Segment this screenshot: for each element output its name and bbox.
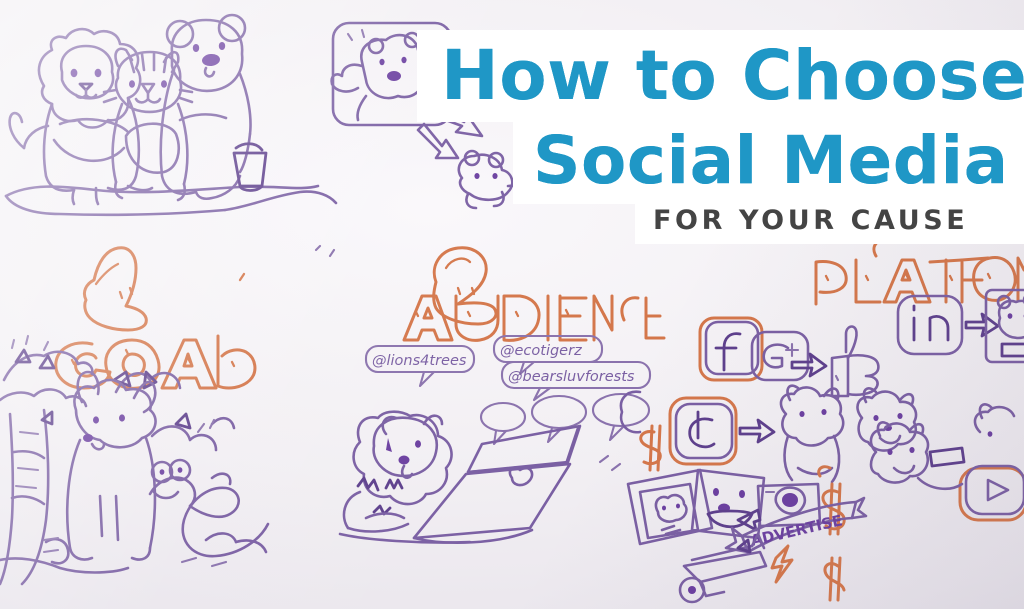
snake-character — [150, 420, 268, 566]
bush-shapes — [114, 372, 234, 450]
twitter-icon[interactable] — [670, 398, 736, 464]
arrow-linkedin-right — [966, 314, 998, 336]
photo-stack — [628, 470, 764, 544]
subtitle-box: FOR YOUR CAUSE — [635, 196, 1024, 244]
svg-text:@ecotigerz: @ecotigerz — [500, 343, 582, 359]
cat-face-right-partial — [975, 404, 1014, 436]
biplane — [680, 534, 766, 602]
arrow-twitter-right — [740, 420, 774, 442]
dollar-signs-left — [641, 426, 661, 470]
title-line1-text: How to Choose — [441, 42, 1024, 111]
cat-faces-group — [781, 386, 916, 482]
lightning-bolt — [772, 546, 792, 582]
linkedin-icon[interactable] — [898, 296, 962, 354]
blank-speech-bubbles — [481, 394, 649, 444]
title-line2-box: Social Media — [513, 118, 1024, 204]
thumbs-up-icon — [832, 327, 878, 396]
fox-character — [44, 372, 156, 560]
svg-text:@lions4trees: @lions4trees — [372, 353, 467, 369]
dollar-sign-right — [825, 558, 844, 600]
section-label-3-platforms — [816, 240, 1024, 304]
video-still-frame: @lions4trees @ecotigerz @bearsluvforests — [0, 0, 1024, 609]
subtitle-text: FOR YOUR CAUSE — [653, 205, 968, 236]
lion-character — [10, 29, 141, 204]
youtube-icon[interactable] — [960, 466, 1024, 520]
cat-with-phone — [871, 422, 964, 488]
paint-bucket — [234, 144, 266, 191]
title-line2-text: Social Media — [533, 128, 1009, 194]
title-line1-box: How to Choose — [417, 30, 1024, 122]
section-label-2-audience — [404, 248, 664, 341]
section-label-1-goal — [56, 248, 255, 389]
svg-text:@bearsluvforests: @bearsluvforests — [508, 369, 635, 385]
speech-bubble-lions4trees: @lions4trees — [366, 346, 474, 386]
